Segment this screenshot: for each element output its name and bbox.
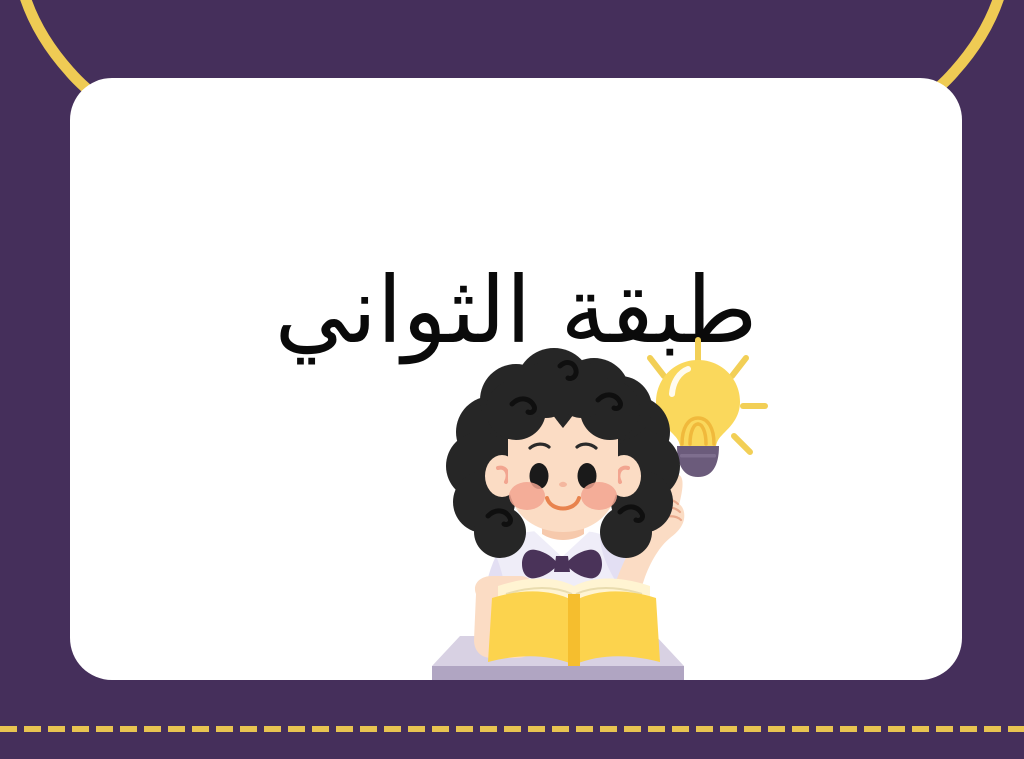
book-spine bbox=[568, 594, 580, 666]
blush-left bbox=[509, 482, 545, 510]
lightbulb-base bbox=[677, 446, 719, 477]
slide-canvas: طبقة الثواني bbox=[0, 0, 1024, 759]
book-face-right bbox=[576, 591, 660, 664]
illustration-girl-reading bbox=[388, 336, 808, 680]
girl-head bbox=[446, 348, 680, 558]
desk-edge bbox=[432, 666, 684, 680]
lightbulb-base-groove bbox=[680, 454, 716, 458]
content-card: طبقة الثواني bbox=[70, 78, 962, 680]
dashed-rule bbox=[0, 726, 1024, 732]
blush-right bbox=[581, 482, 617, 510]
open-book bbox=[488, 579, 660, 667]
book-face-left bbox=[488, 591, 572, 664]
